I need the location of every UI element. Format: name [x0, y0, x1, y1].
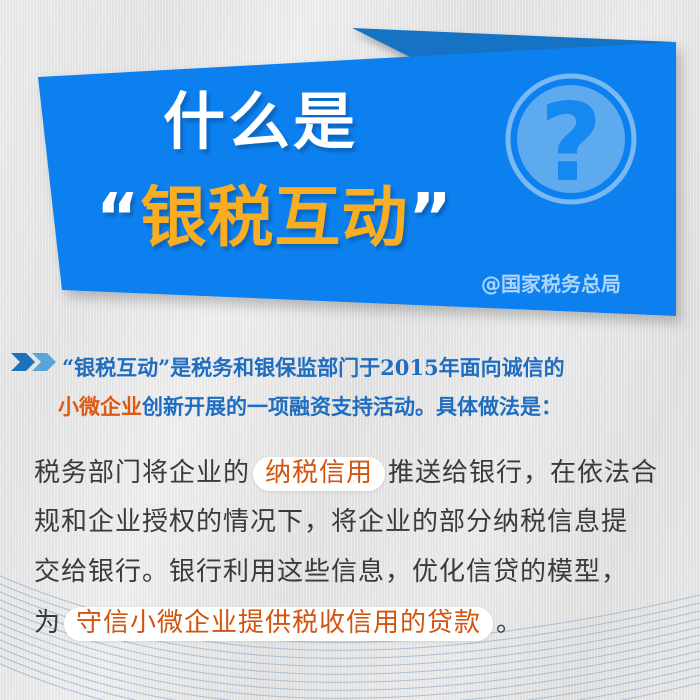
body-paragraph-line-4: 为守信小微企业提供税收信用的贷款。 — [34, 607, 523, 641]
lead-text-row-2: 创新开展的一项融资支持活动。具体做法是： — [142, 394, 562, 419]
body-line1-before: 税务部门将企业的 — [34, 458, 250, 488]
question-mark-circle-icon: ? — [508, 76, 634, 206]
highlight-pill-loan-offer: 守信小微企业提供税收信用的贷款 — [64, 607, 493, 641]
lead-paragraph-row-2: 小微企业创新开展的一项融资支持活动。具体做法是： — [58, 387, 562, 426]
header-banner: ? 什么是 “银税互动” @国家税务总局 — [0, 0, 700, 340]
body-paragraph-line-1: 税务部门将企业的纳税信用推送给银行，在依法合 — [34, 457, 658, 491]
svg-text:?: ? — [540, 81, 603, 206]
lead-text-row-1: “银税互动”是税务和银保监部门于2015年面向诚信的 — [62, 355, 565, 380]
banner-shape: ? — [0, 0, 700, 340]
body-line1-after: 推送给银行，在依法合 — [388, 458, 658, 488]
body-paragraph-line-2: 规和企业授权的情况下，将企业的部分纳税信息提 — [34, 507, 628, 537]
body-paragraph-line-3: 交给银行。银行利用这些信息，优化信贷的模型， — [34, 557, 628, 587]
poster-root: ? 什么是 “银税互动” @国家税务总局 “银税互动”是税务和银保监部门于201… — [0, 0, 700, 700]
body-line4-before: 为 — [34, 608, 61, 638]
highlight-pill-tax-credit: 纳税信用 — [253, 457, 385, 491]
body-line4-after: 。 — [496, 608, 523, 638]
lead-highlight-small-micro-enterprise: 小微企业 — [58, 394, 142, 419]
lead-paragraph-row-1: “银税互动”是税务和银保监部门于2015年面向诚信的 — [10, 348, 565, 387]
double-chevron-right-icon — [10, 351, 58, 373]
